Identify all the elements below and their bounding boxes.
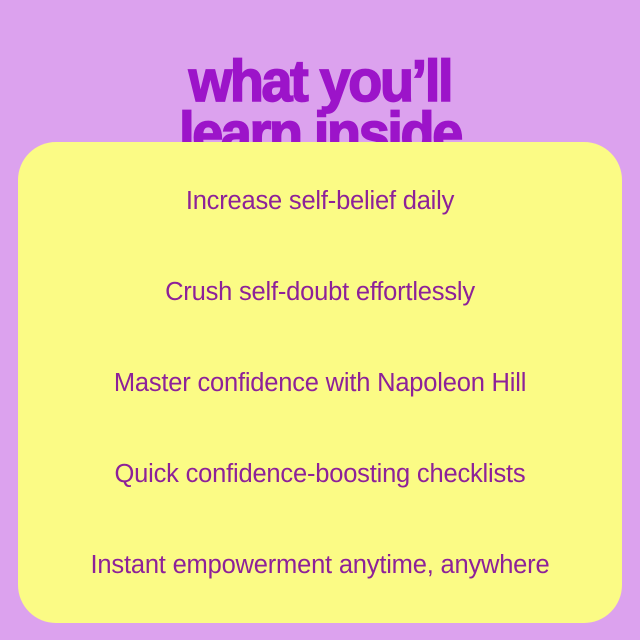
list-item: Master confidence with Napoleon Hill	[18, 337, 622, 428]
list-item: Crush self-doubt effortlessly	[18, 246, 622, 337]
benefits-list: Increase self-belief daily Crush self-do…	[18, 142, 622, 623]
poster-canvas: what you’ll learn inside Increase self-b…	[0, 0, 640, 640]
list-item: Quick confidence-boosting checklists	[18, 428, 622, 519]
benefits-card: Increase self-belief daily Crush self-do…	[18, 142, 622, 623]
page-title-line-1: what you’ll	[13, 57, 627, 107]
list-item: Increase self-belief daily	[18, 155, 622, 246]
list-item: Instant empowerment anytime, anywhere	[18, 519, 622, 610]
